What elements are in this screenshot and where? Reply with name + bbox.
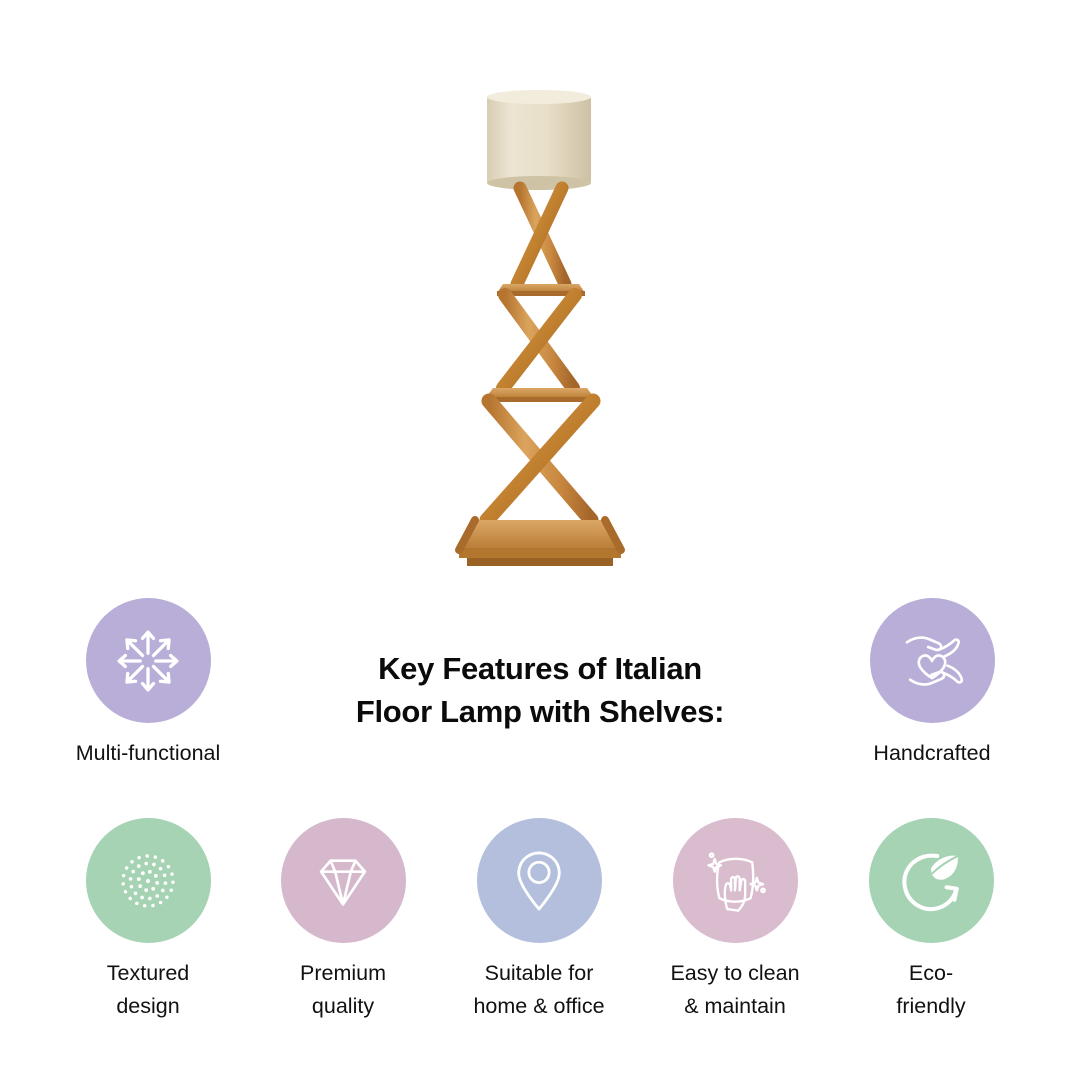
hand-wiping-cloth-sparkle-icon: [696, 842, 774, 920]
lamp-base: [459, 520, 621, 566]
page-title: Key Features of Italian Floor Lamp with …: [300, 648, 780, 734]
lamp-frame-segment-2: [503, 295, 575, 388]
feature-caption-line: Eco-: [836, 957, 1026, 990]
product-photo-floor-lamp: [425, 88, 655, 588]
feature-caption-line: home & office: [444, 990, 634, 1023]
lamp-frame-segment-1: [517, 188, 565, 284]
feature-badge-easy-to-clean: [673, 818, 798, 943]
feature-badge-premium-quality: [281, 818, 406, 943]
feature-badge-textured-design: [86, 818, 211, 943]
feature-caption-line: Premium: [248, 957, 438, 990]
feature-caption-textured-design: Textured design: [53, 957, 243, 1022]
feature-badge-multi-functional: [86, 598, 211, 723]
feature-caption-premium-quality: Premium quality: [248, 957, 438, 1022]
feature-caption-line: Suitable for: [444, 957, 634, 990]
feature-badge-suitable-home-office: [477, 818, 602, 943]
feature-caption-line: quality: [248, 990, 438, 1023]
feature-caption-easy-to-clean: Easy to clean & maintain: [640, 957, 830, 1022]
feature-caption-handcrafted: Handcrafted: [837, 737, 1027, 770]
feature-caption-line: Multi-functional: [53, 737, 243, 770]
location-pin-icon: [500, 842, 578, 920]
multi-directional-arrows-icon: [109, 622, 187, 700]
feature-caption-line: & maintain: [640, 990, 830, 1023]
recycle-leaf-icon: [892, 842, 970, 920]
lamp-shelf-2: [485, 388, 595, 402]
feature-caption-line: Textured: [53, 957, 243, 990]
feature-suitable-home-office[interactable]: Suitable for home & office: [444, 818, 634, 1022]
product-image-area: [0, 0, 1080, 595]
feature-caption-line: Handcrafted: [837, 737, 1027, 770]
lamp-frame-segment-3: [487, 401, 593, 520]
feature-multi-functional[interactable]: Multi-functional: [53, 598, 243, 770]
feature-badge-eco-friendly: [869, 818, 994, 943]
dotted-texture-icon: [109, 842, 187, 920]
feature-easy-to-clean[interactable]: Easy to clean & maintain: [640, 818, 830, 1022]
page-title-line-1: Key Features of Italian: [300, 648, 780, 691]
feature-handcrafted[interactable]: Handcrafted: [837, 598, 1027, 770]
feature-caption-line: friendly: [836, 990, 1026, 1023]
feature-badge-handcrafted: [870, 598, 995, 723]
feature-caption-line: Easy to clean: [640, 957, 830, 990]
feature-eco-friendly[interactable]: Eco- friendly: [836, 818, 1026, 1022]
feature-caption-suitable-home-office: Suitable for home & office: [444, 957, 634, 1022]
feature-caption-multi-functional: Multi-functional: [53, 737, 243, 770]
diamond-icon: [304, 842, 382, 920]
feature-caption-eco-friendly: Eco- friendly: [836, 957, 1026, 1022]
lamp-shade: [487, 90, 591, 190]
feature-caption-line: design: [53, 990, 243, 1023]
hands-holding-heart-icon: [893, 622, 971, 700]
feature-textured-design[interactable]: Textured design: [53, 818, 243, 1022]
page-title-line-2: Floor Lamp with Shelves:: [300, 691, 780, 734]
feature-premium-quality[interactable]: Premium quality: [248, 818, 438, 1022]
